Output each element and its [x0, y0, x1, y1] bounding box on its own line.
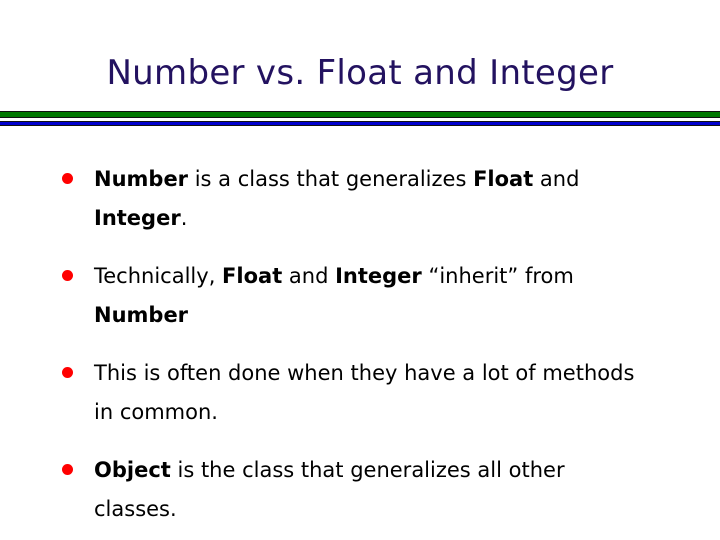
body-text-run: This is often done when they have a lot … [94, 361, 634, 424]
body-text-run: “inherit” from [422, 264, 574, 288]
divider-green [0, 111, 720, 118]
page-title: Number vs. Float and Integer [106, 52, 613, 94]
body-text-run: . [181, 206, 188, 230]
body-text-run: Technically, [94, 264, 222, 288]
list-item-text: Technically, Float and Integer “inherit”… [94, 257, 642, 335]
bullet-circle-icon [62, 173, 73, 184]
list-item-text: Number is a class that generalizes Float… [94, 160, 642, 238]
slide-canvas: Number vs. Float and Integer Number is a… [0, 0, 720, 540]
emphasized-term: Integer [335, 264, 422, 288]
bullet-list: Number is a class that generalizes Float… [60, 160, 660, 529]
bullet-circle-icon [62, 270, 73, 281]
bullet-circle-icon [62, 464, 73, 475]
bullet-circle-icon [62, 367, 73, 378]
divider-blue [0, 121, 720, 126]
emphasized-term: Integer [94, 206, 181, 230]
slide-title-container: Number vs. Float and Integer [0, 52, 720, 94]
body-text-run: and [282, 264, 335, 288]
body-text-run: is a class that generalizes [188, 167, 473, 191]
emphasized-term: Object [94, 458, 171, 482]
emphasized-term: Float [473, 167, 533, 191]
list-item-text: This is often done when they have a lot … [94, 354, 642, 432]
body-text-run: and [533, 167, 579, 191]
list-item: Number is a class that generalizes Float… [60, 160, 660, 238]
emphasized-term: Number [94, 303, 188, 327]
list-item: Object is the class that generalizes all… [60, 451, 660, 529]
list-item-text: Object is the class that generalizes all… [94, 451, 642, 529]
list-item: Technically, Float and Integer “inherit”… [60, 257, 660, 335]
list-item: This is often done when they have a lot … [60, 354, 660, 432]
emphasized-term: Number [94, 167, 188, 191]
emphasized-term: Float [222, 264, 282, 288]
